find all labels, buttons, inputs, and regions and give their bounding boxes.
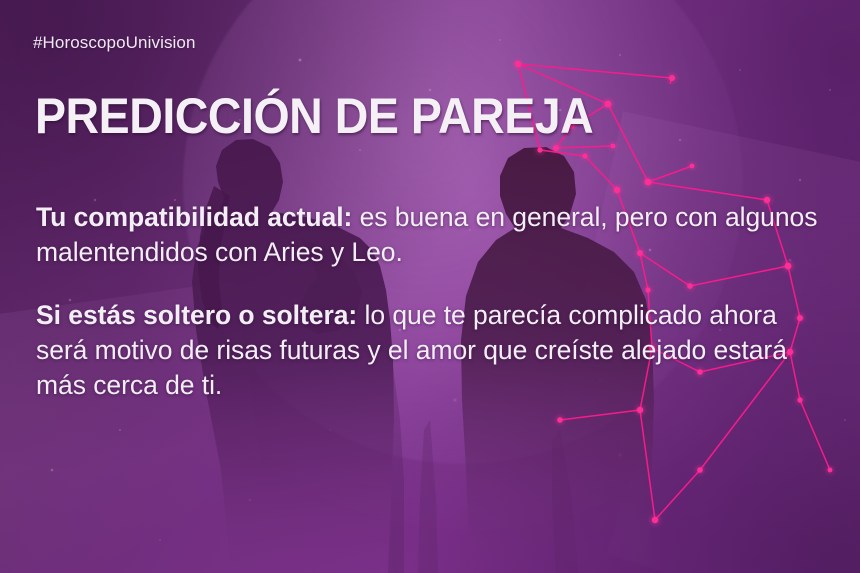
hashtag-label: #HoroscopoUnivision (33, 33, 196, 53)
page-title: PREDICCIÓN DE PAREJA (35, 88, 593, 144)
paragraph-compatibility: Tu compatibilidad actual: es buena en ge… (36, 200, 826, 270)
text-content: #HoroscopoUnivision PREDICCIÓN DE PAREJA… (0, 0, 860, 573)
prediction-body: Tu compatibilidad actual: es buena en ge… (36, 200, 826, 403)
paragraph-single: Si estás soltero o soltera: lo que te pa… (36, 298, 826, 403)
paragraph-compatibility-lead: Tu compatibilidad actual: (36, 202, 352, 232)
horoscope-card: #HoroscopoUnivision PREDICCIÓN DE PAREJA… (0, 0, 860, 573)
paragraph-single-lead: Si estás soltero o soltera: (36, 300, 357, 330)
